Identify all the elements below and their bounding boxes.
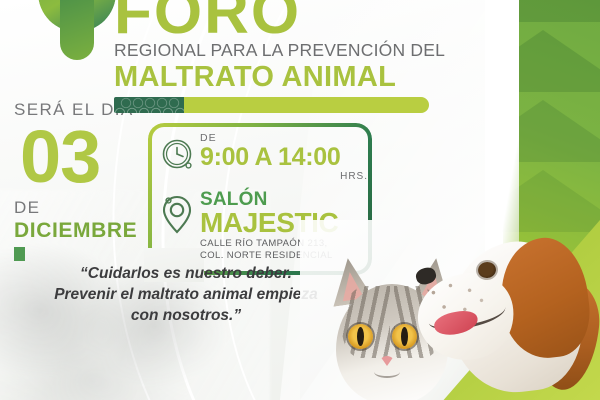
- logo-stem-shape: [60, 0, 94, 60]
- date-accent-square: [14, 247, 25, 261]
- date-month-label: DICIEMBRE: [14, 219, 164, 243]
- animals-photo-area: [300, 220, 600, 400]
- headline-line-2: MALTRATO ANIMAL: [114, 61, 474, 93]
- schedule-row: DE 9:00 A 14:00 HRS.: [160, 133, 372, 182]
- event-type-title: FORO: [114, 0, 474, 42]
- cat-eye-left: [348, 324, 373, 349]
- date-day-number: 03: [20, 122, 164, 192]
- quote-block: “Cuidarlos es nuestro deber. Prevenir el…: [36, 263, 336, 326]
- schedule-hours-unit: HRS.: [200, 171, 368, 182]
- headline-line-1: REGIONAL PARA LA PREVENCIÓN DEL: [114, 40, 474, 61]
- schedule-time: 9:00 A 14:00: [200, 144, 372, 170]
- clock-icon: [160, 133, 200, 178]
- date-of-label: DE: [14, 198, 164, 218]
- cat-mouth: [374, 366, 400, 378]
- headline-accent-bar: [114, 97, 429, 113]
- accent-bar-pattern: [114, 97, 184, 113]
- quote-line-1: “Cuidarlos es nuestro deber.: [36, 263, 336, 284]
- dog-photo: [402, 228, 592, 400]
- poster-canvas: FORO REGIONAL PARA LA PREVENCIÓN DEL MAL…: [0, 0, 600, 400]
- headline-block: FORO REGIONAL PARA LA PREVENCIÓN DEL MAL…: [114, 0, 474, 113]
- location-pin-icon: [160, 190, 200, 241]
- schedule-text: DE 9:00 A 14:00 HRS.: [200, 133, 372, 182]
- leaf-logo-icon: [38, 0, 116, 80]
- date-block: SERÁ EL DÍA 03 DE DICIEMBRE: [14, 100, 164, 261]
- quote-line-2: Prevenir el maltrato animal empieza: [36, 284, 336, 305]
- quote-line-3: con nosotros.”: [36, 305, 336, 326]
